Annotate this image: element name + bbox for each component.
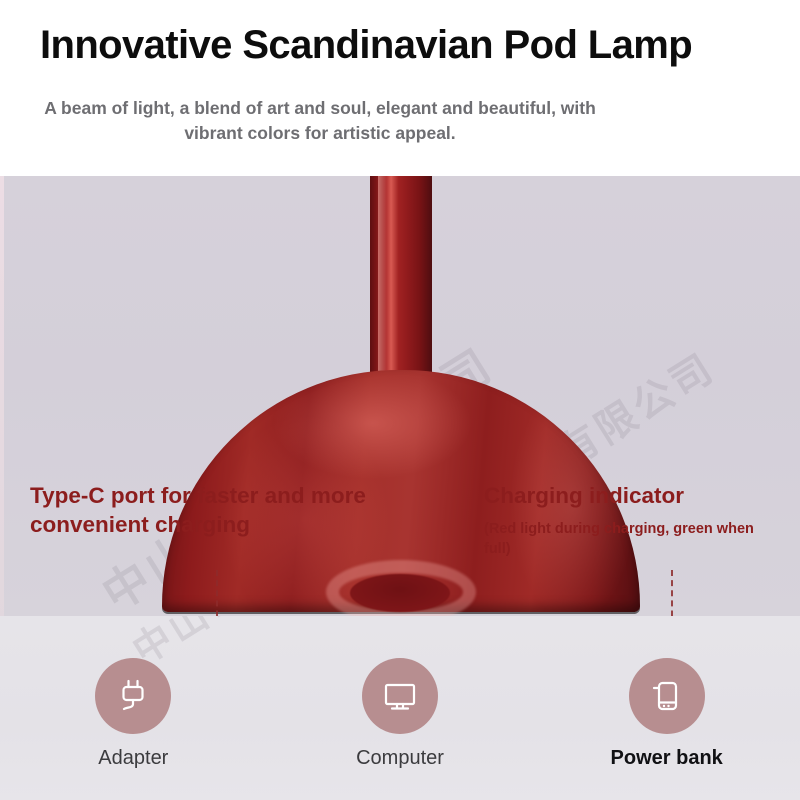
compatibility-item-power-bank: Power bank [533,616,800,769]
monitor-icon [378,674,422,718]
compatibility-list: Adapter Computer [0,616,800,800]
compatibility-label: Power bank [611,748,723,769]
compatibility-label: Computer [356,748,444,769]
icon-badge [629,658,705,734]
compatibility-section: 中山市照明有限公司 Adapter [0,616,800,800]
icon-badge [362,658,438,734]
callout-line-right [671,570,673,616]
compatibility-item-adapter: Adapter [0,616,267,769]
dome-stem-socket [350,574,450,612]
page-title: Innovative Scandinavian Pod Lamp [40,24,770,66]
callout-line-left [216,570,218,616]
product-photo-stage: 中山市照明有限公司 照明有限公司 Type-C port for faster … [0,176,800,616]
compatibility-label: Adapter [98,748,168,769]
power-bank-icon [645,674,689,718]
power-plug-icon [111,674,155,718]
header-section: Innovative Scandinavian Pod Lamp A beam … [0,0,800,176]
callout-label-charging-indicator: Charging indicator [484,482,784,509]
page-subtitle: A beam of light, a blend of art and soul… [20,96,620,147]
compatibility-item-computer: Computer [267,616,534,769]
callout-note-charging-indicator: (Red light during charging, green when f… [484,520,774,559]
product-feature-card: Innovative Scandinavian Pod Lamp A beam … [0,0,800,800]
callout-label-type-c: Type-C port for faster and more convenie… [30,482,380,540]
lamp-stem [370,176,432,380]
icon-badge [95,658,171,734]
